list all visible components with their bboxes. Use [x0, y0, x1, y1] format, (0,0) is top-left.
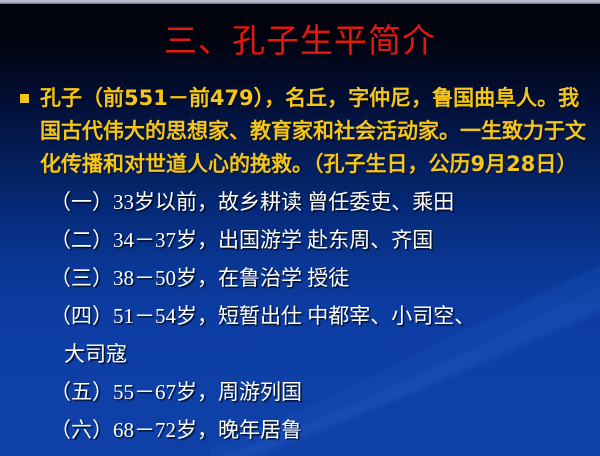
- list-item: （二）34－37岁，出国游学 赴东周、齐国: [50, 221, 594, 259]
- list-item: （六）68－72岁，晚年居鲁: [50, 411, 594, 449]
- list-item: （五）55－67岁，周游列国: [50, 373, 594, 411]
- list-item: （一）33岁以前，故乡耕读 曾任委吏、乘田: [50, 183, 594, 221]
- list-item-continuation: 大司寇: [50, 335, 594, 373]
- intro-paragraph: 孔子（前551－前479），名丘，字仲尼，鲁国曲阜人。我国古代伟大的思想家、教育…: [40, 82, 594, 181]
- slide-content: 三、孔子生平简介 孔子（前551－前479），名丘，字仲尼，鲁国曲阜人。我国古代…: [0, 0, 600, 456]
- square-bullet-icon: [20, 94, 29, 103]
- window-top-strip: [0, 0, 600, 4]
- slide-body: 孔子（前551－前479），名丘，字仲尼，鲁国曲阜人。我国古代伟大的思想家、教育…: [14, 82, 594, 449]
- presentation-slide: 三、孔子生平简介 孔子（前551－前479），名丘，字仲尼，鲁国曲阜人。我国古代…: [0, 0, 600, 456]
- page-title: 三、孔子生平简介: [0, 22, 600, 62]
- intro-bullet-row: 孔子（前551－前479），名丘，字仲尼，鲁国曲阜人。我国古代伟大的思想家、教育…: [14, 82, 594, 181]
- list-item: （四）51－54岁，短暂出仕 中都宰、小司空、: [50, 297, 594, 335]
- life-stages-list: （一）33岁以前，故乡耕读 曾任委吏、乘田 （二）34－37岁，出国游学 赴东周…: [14, 183, 594, 449]
- list-item: （三）38－50岁，在鲁治学 授徒: [50, 259, 594, 297]
